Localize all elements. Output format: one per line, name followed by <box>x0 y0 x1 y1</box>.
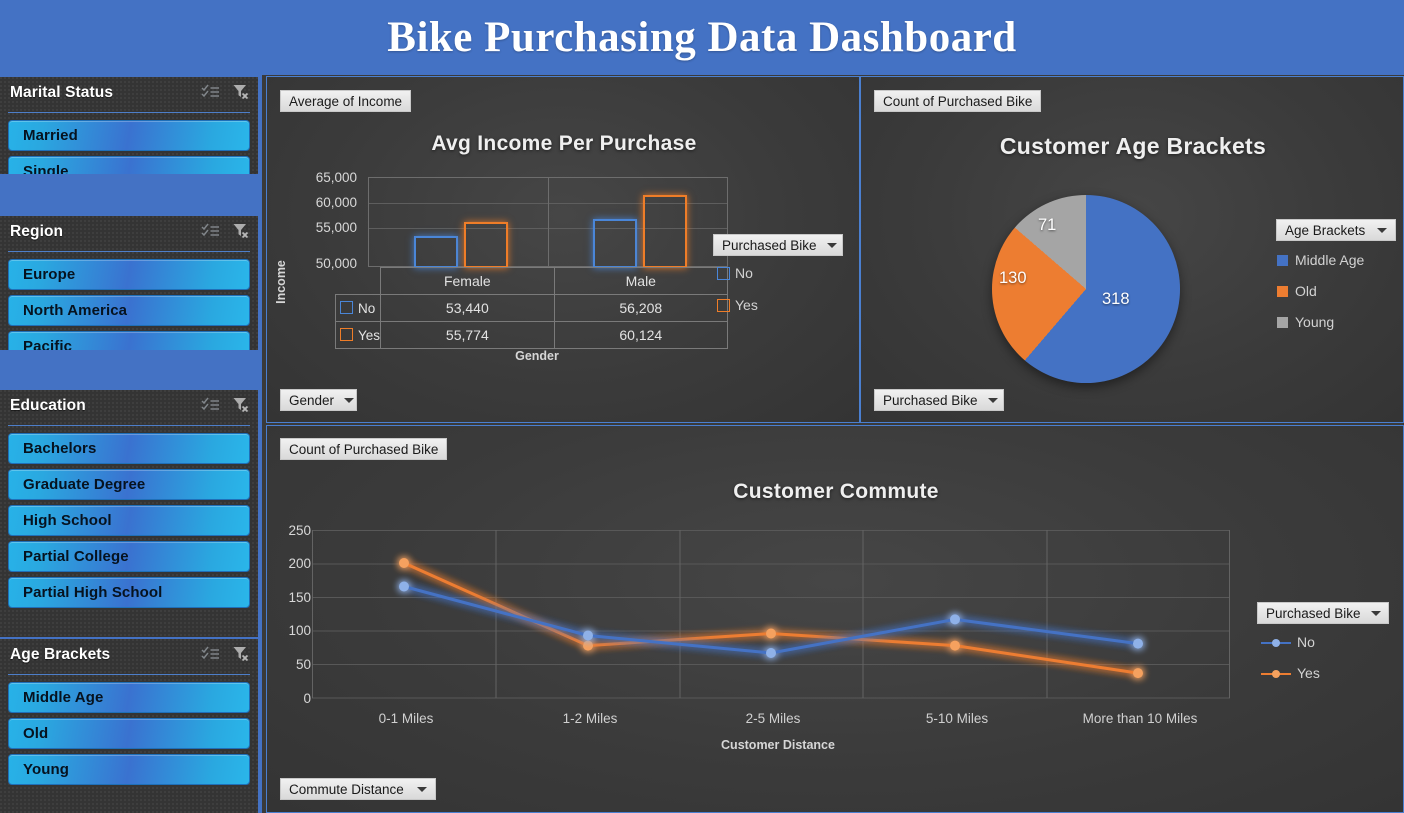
axis-field-label: Gender <box>289 393 334 408</box>
y-tick-label: 150 <box>267 590 311 605</box>
legend-item-old: Old <box>1277 283 1317 299</box>
bar-male-no[interactable] <box>593 219 637 268</box>
legend-label: Young <box>1295 314 1334 330</box>
slicer-header: Education <box>0 390 258 426</box>
slicer-title: Education <box>10 397 86 415</box>
bar-chart-x-axis-label: Gender <box>267 349 807 363</box>
legend-label: Yes <box>735 297 758 313</box>
table-row-categories: Female Male <box>336 268 728 295</box>
bar-chart-y-axis-label: Income <box>274 260 288 304</box>
slicer-item-label: Old <box>9 725 48 742</box>
table-legend-label: Yes <box>358 328 380 343</box>
value-field-button[interactable]: Count of Purchased Bike <box>280 438 447 460</box>
slicer-rail: Marital Status <box>0 75 262 813</box>
chevron-down-icon <box>417 787 427 792</box>
legend-swatch-young <box>1277 317 1288 328</box>
legend-field-button[interactable]: Age Brackets <box>1276 219 1396 241</box>
filter-field-label: Purchased Bike <box>883 393 978 408</box>
slicer-item-label: Partial High School <box>9 584 162 601</box>
slicer-item-married[interactable]: Married <box>8 120 250 151</box>
legend-item-young: Young <box>1277 314 1334 330</box>
slicer-header-icons <box>201 222 250 239</box>
y-tick-label: 0 <box>267 691 311 706</box>
legend-item-yes: Yes <box>717 297 758 313</box>
clear-filter-icon[interactable] <box>232 645 250 662</box>
legend-label: Middle Age <box>1295 252 1364 268</box>
table-cell: 60,124 <box>554 322 727 349</box>
bar-female-yes[interactable] <box>464 222 508 268</box>
legend-field-label: Age Brackets <box>1285 223 1365 238</box>
slicer-header: Region <box>0 216 258 252</box>
y-tick-label: 200 <box>267 556 311 571</box>
slicer-items: Married Single <box>0 113 258 174</box>
multi-select-icon[interactable] <box>201 84 220 100</box>
slicer-divider <box>8 112 250 113</box>
slicer-item-europe[interactable]: Europe <box>8 259 250 290</box>
legend-label: No <box>735 265 753 281</box>
chevron-down-icon <box>1371 611 1381 616</box>
legend-field-label: Purchased Bike <box>722 238 817 253</box>
y-tick-label: 50 <box>267 657 311 672</box>
pie-chart-title: Customer Age Brackets <box>861 133 1404 160</box>
category-divider <box>548 178 549 266</box>
slicer-divider <box>8 251 250 252</box>
bar-chart-title: Avg Income Per Purchase <box>267 132 861 156</box>
slicer-item-label: Young <box>9 761 69 778</box>
chevron-down-icon <box>344 398 354 403</box>
slicer-divider <box>8 674 250 675</box>
multi-select-icon[interactable] <box>201 223 220 239</box>
slicer-item-label: Graduate Degree <box>9 476 145 493</box>
slicer-marital-status: Marital Status <box>0 75 258 174</box>
chevron-down-icon <box>1377 228 1387 233</box>
axis-field-button[interactable]: Commute Distance <box>280 778 436 800</box>
bar-female-no[interactable] <box>414 236 458 268</box>
slicer-item-north-america[interactable]: North America <box>8 295 250 326</box>
slicer-header-icons <box>201 645 250 662</box>
bar-male-yes[interactable] <box>643 195 687 268</box>
legend-item-middle-age: Middle Age <box>1277 252 1364 268</box>
chevron-down-icon <box>988 398 998 403</box>
legend-swatch-old <box>1277 286 1288 297</box>
chevron-down-icon <box>827 243 837 248</box>
clear-filter-icon[interactable] <box>232 83 250 100</box>
legend-marker-yes <box>717 299 730 312</box>
bar-chart-panel: Average of Income Avg Income Per Purchas… <box>266 76 860 423</box>
legend-marker-yes <box>1261 668 1291 679</box>
pie-slice-label-old: 130 <box>999 269 1027 288</box>
slicer-item-label: Bachelors <box>9 440 96 457</box>
slicer-header: Marital Status <box>0 77 258 113</box>
multi-select-icon[interactable] <box>201 397 220 413</box>
legend-label: Old <box>1295 283 1317 299</box>
y-tick-label: 55,000 <box>295 220 357 235</box>
legend-swatch-no <box>340 301 353 314</box>
slicer-item-high-school[interactable]: High School <box>8 505 250 536</box>
legend-marker-no <box>1261 637 1291 648</box>
slicer-item-label: Single <box>9 163 69 174</box>
slicer-item-old[interactable]: Old <box>8 718 250 749</box>
line-chart-title: Customer Commute <box>267 480 1404 504</box>
table-row: No 53,440 56,208 <box>336 295 728 322</box>
dashboard-title-bar: Bike Purchasing Data Dashboard <box>0 0 1404 75</box>
slicer-items: Middle Age Old Young <box>0 675 258 793</box>
slicer-item-partial-college[interactable]: Partial College <box>8 541 250 572</box>
table-cell: 56,208 <box>554 295 727 322</box>
slicer-title: Age Brackets <box>10 646 110 664</box>
slicer-item-pacific[interactable]: Pacific <box>8 331 250 350</box>
slicer-item-bachelors[interactable]: Bachelors <box>8 433 250 464</box>
slicer-item-label: Europe <box>9 266 75 283</box>
table-legend-yes: Yes <box>336 322 381 349</box>
value-field-label: Count of Purchased Bike <box>289 442 438 457</box>
value-field-button[interactable]: Average of Income <box>280 90 411 112</box>
slicer-header-icons <box>201 396 250 413</box>
slicer-item-partial-high-school[interactable]: Partial High School <box>8 577 250 608</box>
bar-chart-plot-area <box>368 177 728 267</box>
table-header-female: Female <box>381 268 555 295</box>
legend-field-label: Purchased Bike <box>1266 606 1361 621</box>
line-chart-x-axis-label: Customer Distance <box>267 738 1289 752</box>
slicer-items: Europe North America Pacific <box>0 252 258 350</box>
dashboard-root: Bike Purchasing Data Dashboard Marital S… <box>0 0 1404 813</box>
clear-filter-icon[interactable] <box>232 222 250 239</box>
line-chart-plot-area <box>312 530 1232 700</box>
table-legend-no: No <box>336 295 381 322</box>
x-tick-label: 0-1 Miles <box>314 711 498 726</box>
x-tick-label: 2-5 Miles <box>681 711 865 726</box>
legend-item-no: No <box>717 265 753 281</box>
legend-label: Yes <box>1297 665 1320 681</box>
slicer-item-label: Partial College <box>9 548 129 565</box>
x-tick-label: More than 10 Miles <box>1048 711 1232 726</box>
table-row: Yes 55,774 60,124 <box>336 322 728 349</box>
slicer-item-label: Married <box>9 127 78 144</box>
y-tick-label: 250 <box>267 523 311 538</box>
legend-field-button[interactable]: Purchased Bike <box>713 234 843 256</box>
value-field-label: Average of Income <box>289 94 402 109</box>
page-title: Bike Purchasing Data Dashboard <box>0 0 1404 75</box>
pie-chart-graphic[interactable] <box>992 195 1180 383</box>
pie-slice-label-middle-age: 318 <box>1102 290 1130 309</box>
slicer-item-label: Middle Age <box>9 689 103 706</box>
line-chart-panel: Count of Purchased Bike Customer Commute… <box>266 425 1404 813</box>
slicer-item-single[interactable]: Single <box>8 156 250 174</box>
slicer-items: Bachelors Graduate Degree High School Pa… <box>0 426 258 616</box>
y-tick-label: 60,000 <box>295 195 357 210</box>
legend-item-no: No <box>1261 634 1315 650</box>
slicer-age-brackets: Age Brackets <box>0 637 258 813</box>
slicer-item-label: Pacific <box>9 338 72 350</box>
legend-swatch-middle-age <box>1277 255 1288 266</box>
slicer-title: Region <box>10 223 63 241</box>
axis-field-button[interactable]: Gender <box>280 389 357 411</box>
pie-slice-label-young: 71 <box>1038 216 1056 235</box>
table-cell: 55,774 <box>381 322 555 349</box>
filter-field-button[interactable]: Purchased Bike <box>874 389 1004 411</box>
legend-field-button[interactable]: Purchased Bike <box>1257 602 1389 624</box>
table-legend-label: No <box>358 301 375 316</box>
legend-label: No <box>1297 634 1315 650</box>
multi-select-icon[interactable] <box>201 646 220 662</box>
pie-chart-panel: Count of Purchased Bike Customer Age Bra… <box>860 76 1404 423</box>
legend-swatch-yes <box>340 328 353 341</box>
slicer-region: Region E <box>0 214 258 350</box>
slicer-item-graduate-degree[interactable]: Graduate Degree <box>8 469 250 500</box>
slicer-header: Age Brackets <box>0 639 258 675</box>
slicer-item-label: North America <box>9 302 127 319</box>
legend-marker-no <box>717 267 730 280</box>
legend-item-yes: Yes <box>1261 665 1320 681</box>
slicer-item-label: High School <box>9 512 112 529</box>
slicer-divider <box>8 425 250 426</box>
slicer-header-icons <box>201 83 250 100</box>
table-cell: 53,440 <box>381 295 555 322</box>
slicer-title: Marital Status <box>10 84 113 102</box>
y-tick-label: 100 <box>267 623 311 638</box>
slicer-item-young[interactable]: Young <box>8 754 250 785</box>
y-tick-label: 65,000 <box>295 170 357 185</box>
value-field-label: Count of Purchased Bike <box>883 94 1032 109</box>
table-header-male: Male <box>554 268 727 295</box>
value-field-button[interactable]: Count of Purchased Bike <box>874 90 1041 112</box>
slicer-education: Education <box>0 388 258 637</box>
x-tick-label: 5-10 Miles <box>865 711 1049 726</box>
x-tick-label: 1-2 Miles <box>498 711 682 726</box>
axis-field-label: Commute Distance <box>289 782 404 797</box>
bar-chart-data-table: Female Male No 53,440 56,208 Yes 55,774 … <box>335 267 728 349</box>
slicer-item-middle-age[interactable]: Middle Age <box>8 682 250 713</box>
clear-filter-icon[interactable] <box>232 396 250 413</box>
